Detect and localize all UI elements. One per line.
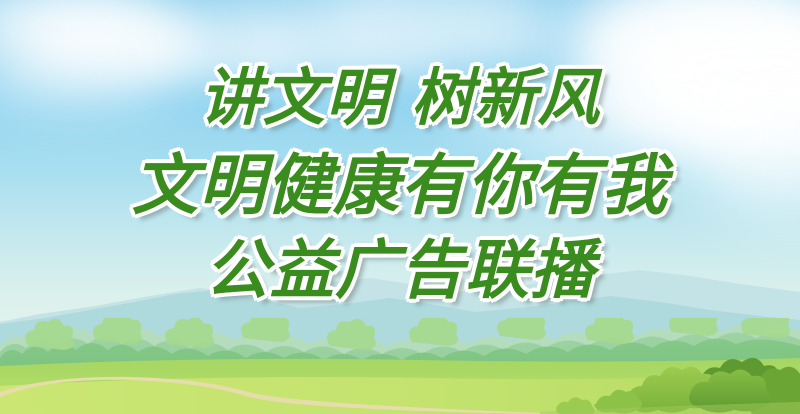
bush-cluster-right (0, 350, 800, 414)
headline-line-1: 讲文明 树新风 (0, 62, 800, 134)
headline-line-3: 公益广告联播 (0, 234, 800, 308)
psa-banner: 讲文明 树新风 文明健康有你有我 公益广告联播 (0, 0, 800, 414)
cloud-wisp (400, 20, 560, 64)
headline-line-2: 文明健康有你有我 (0, 148, 800, 224)
